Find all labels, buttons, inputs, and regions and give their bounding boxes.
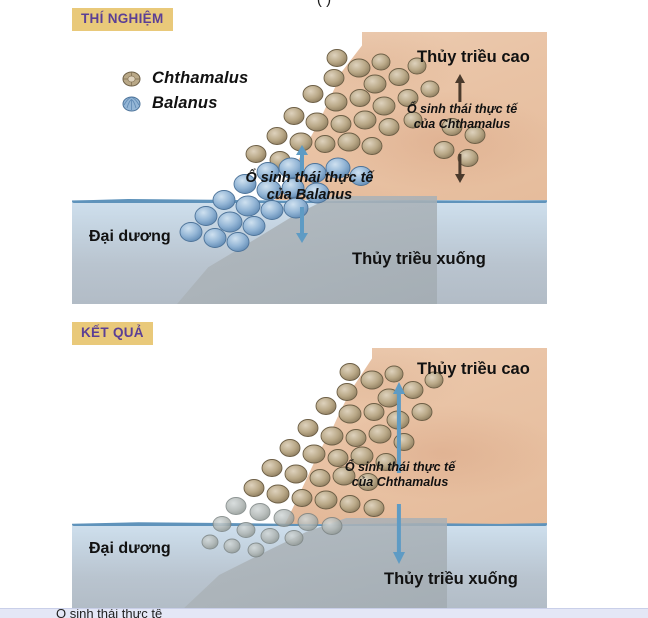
label-low-tide-result: Thủy triều xuống bbox=[384, 570, 518, 589]
label-ocean-result: Đại dương bbox=[89, 540, 171, 558]
niche-line-2: của Balanus bbox=[232, 187, 387, 204]
barnacle-brown-icon bbox=[122, 71, 141, 87]
section-banner-experiment: THÍ NGHIỆM bbox=[72, 8, 173, 31]
label-balanus-niche-experiment: Ổ sinh thái thực tế của Balanus bbox=[232, 170, 387, 204]
legend-item-balanus: Balanus bbox=[122, 91, 248, 116]
label-high-tide-result: Thủy triều cao bbox=[417, 360, 530, 379]
legend: Chthamalus Balanus bbox=[122, 66, 248, 116]
top-clipped-caption: ( ) bbox=[0, 0, 648, 7]
niche-line-2: của Chthamalus bbox=[338, 475, 462, 490]
label-chthamalus-niche-experiment: Ổ sinh thái thực tế của Chthamalus bbox=[400, 102, 524, 132]
label-low-tide-experiment: Thủy triều xuống bbox=[352, 250, 486, 269]
niche-line-1: Ổ sinh thái thực tế bbox=[400, 102, 524, 117]
niche-line-1: Ổ sinh thái thực tế bbox=[338, 460, 462, 475]
section-banner-result: KẾT QUẢ bbox=[72, 322, 153, 345]
label-high-tide-experiment: Thủy triều cao bbox=[417, 48, 530, 67]
label-ocean-experiment: Đại dương bbox=[89, 228, 171, 246]
label-chthamalus-niche-result: Ổ sinh thái thực tế của Chthamalus bbox=[338, 460, 462, 490]
legend-item-chthamalus: Chthamalus bbox=[122, 66, 248, 91]
legend-label-chthamalus: Chthamalus bbox=[152, 69, 248, 88]
niche-line-1: Ổ sinh thái thực tế bbox=[232, 170, 387, 187]
figure-page: ( ) THÍ NGHIỆM bbox=[0, 0, 648, 618]
bottom-clipped-band: Ổ sinh thái thực tế bbox=[0, 608, 648, 618]
barnacle-blue-icon bbox=[122, 96, 141, 112]
legend-label-balanus: Balanus bbox=[152, 94, 218, 113]
result-panel: Thủy triều cao Ổ sinh thái thực tế của C… bbox=[72, 348, 547, 610]
niche-line-2: của Chthamalus bbox=[400, 117, 524, 132]
bottom-clipped-caption: Ổ sinh thái thực tế bbox=[56, 608, 162, 618]
